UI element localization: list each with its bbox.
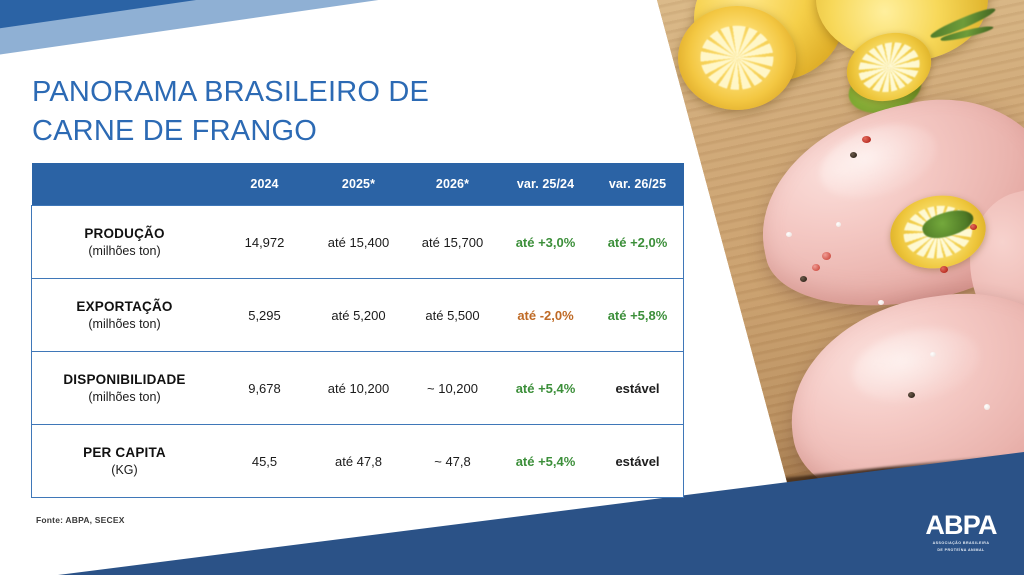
row-label-unit: (milhões ton) bbox=[33, 389, 216, 405]
header-2025: 2025* bbox=[312, 163, 406, 206]
cell-2026: ~ 47,8 bbox=[406, 425, 500, 498]
cell-2024: 14,972 bbox=[218, 206, 312, 279]
cell-2025: até 15,400 bbox=[312, 206, 406, 279]
spice-speck bbox=[812, 264, 820, 271]
table-row: DISPONIBILIDADE (milhões ton) 9,678 até … bbox=[32, 352, 684, 425]
chicken-photo bbox=[640, 0, 1024, 575]
abpa-logo-wordmark: ABPA bbox=[913, 512, 1009, 539]
cell-var-25-24: até -2,0% bbox=[500, 279, 592, 352]
row-label-unit: (milhões ton) bbox=[33, 243, 216, 259]
abpa-logo: ABPA ASSOCIAÇÃO BRASILEIRA DE PROTEÍNA A… bbox=[913, 512, 1009, 553]
row-label-unit: (milhões ton) bbox=[33, 316, 216, 332]
cell-2026: ~ 10,200 bbox=[406, 352, 500, 425]
cell-var-26-25: estável bbox=[592, 425, 684, 498]
salt-grain bbox=[984, 404, 990, 410]
cell-2025: até 10,200 bbox=[312, 352, 406, 425]
table-header: 2024 2025* 2026* var. 25/24 var. 26/25 bbox=[32, 163, 684, 206]
salt-grain bbox=[930, 352, 936, 357]
row-label-per-capita: PER CAPITA (KG) bbox=[32, 425, 218, 498]
page-title: PANORAMA BRASILEIRO DE CARNE DE FRANGO bbox=[32, 73, 612, 150]
panorama-table-wrapper: 2024 2025* 2026* var. 25/24 var. 26/25 P… bbox=[31, 163, 679, 498]
spice-speck bbox=[822, 252, 831, 260]
title-line-1: PANORAMA BRASILEIRO DE bbox=[32, 73, 612, 111]
salt-grain bbox=[786, 232, 792, 237]
cell-var-26-25: até +5,8% bbox=[592, 279, 684, 352]
header-label bbox=[32, 163, 218, 206]
source-note: Fonte: ABPA, SECEX bbox=[36, 515, 125, 525]
header-var-26-25: var. 26/25 bbox=[592, 163, 684, 206]
row-label-main: PER CAPITA bbox=[33, 444, 216, 461]
cell-var-25-24: até +5,4% bbox=[500, 425, 592, 498]
row-label-producao: PRODUÇÃO (milhões ton) bbox=[32, 206, 218, 279]
header-2024: 2024 bbox=[218, 163, 312, 206]
cell-2024: 9,678 bbox=[218, 352, 312, 425]
top-left-dark-band bbox=[0, 0, 475, 35]
table-row: PER CAPITA (KG) 45,5 até 47,8 ~ 47,8 até… bbox=[32, 425, 684, 498]
table-body: PRODUÇÃO (milhões ton) 14,972 até 15,400… bbox=[32, 206, 684, 498]
title-line-2: CARNE DE FRANGO bbox=[32, 112, 612, 150]
table-row: EXPORTAÇÃO (milhões ton) 5,295 até 5,200… bbox=[32, 279, 684, 352]
slide-canvas: PANORAMA BRASILEIRO DE CARNE DE FRANGO 2… bbox=[0, 0, 1024, 575]
table-header-row: 2024 2025* 2026* var. 25/24 var. 26/25 bbox=[32, 163, 684, 206]
salt-grain bbox=[836, 222, 841, 227]
abpa-logo-subtitle-line-1: ASSOCIAÇÃO BRASILEIRA bbox=[913, 541, 1009, 546]
salt-grain bbox=[878, 300, 884, 305]
cell-2026: até 15,700 bbox=[406, 206, 500, 279]
table-row: PRODUÇÃO (milhões ton) 14,972 até 15,400… bbox=[32, 206, 684, 279]
header-var-25-24: var. 25/24 bbox=[500, 163, 592, 206]
row-label-main: DISPONIBILIDADE bbox=[33, 371, 216, 388]
spice-speck bbox=[908, 392, 915, 398]
row-label-main: PRODUÇÃO bbox=[33, 225, 216, 242]
row-label-exportacao: EXPORTAÇÃO (milhões ton) bbox=[32, 279, 218, 352]
cell-2024: 5,295 bbox=[218, 279, 312, 352]
header-2026: 2026* bbox=[406, 163, 500, 206]
lemon-half-icon bbox=[678, 6, 796, 110]
top-left-light-band bbox=[0, 0, 457, 56]
cell-2024: 45,5 bbox=[218, 425, 312, 498]
spice-speck bbox=[862, 136, 871, 143]
cell-var-25-24: até +3,0% bbox=[500, 206, 592, 279]
row-label-disponibilidade: DISPONIBILIDADE (milhões ton) bbox=[32, 352, 218, 425]
panorama-table: 2024 2025* 2026* var. 25/24 var. 26/25 P… bbox=[31, 163, 684, 498]
cell-2025: até 5,200 bbox=[312, 279, 406, 352]
cell-var-25-24: até +5,4% bbox=[500, 352, 592, 425]
spice-speck bbox=[970, 224, 977, 230]
spice-speck bbox=[800, 276, 807, 282]
cell-2025: até 47,8 bbox=[312, 425, 406, 498]
cell-var-26-25: estável bbox=[592, 352, 684, 425]
abpa-logo-subtitle-line-2: DE PROTEÍNA ANIMAL bbox=[913, 548, 1009, 553]
spice-speck bbox=[940, 266, 948, 273]
spice-speck bbox=[850, 152, 857, 158]
row-label-unit: (KG) bbox=[33, 462, 216, 478]
photo-artwork bbox=[640, 0, 1024, 575]
cell-var-26-25: até +2,0% bbox=[592, 206, 684, 279]
cell-2026: até 5,500 bbox=[406, 279, 500, 352]
row-label-main: EXPORTAÇÃO bbox=[33, 298, 216, 315]
